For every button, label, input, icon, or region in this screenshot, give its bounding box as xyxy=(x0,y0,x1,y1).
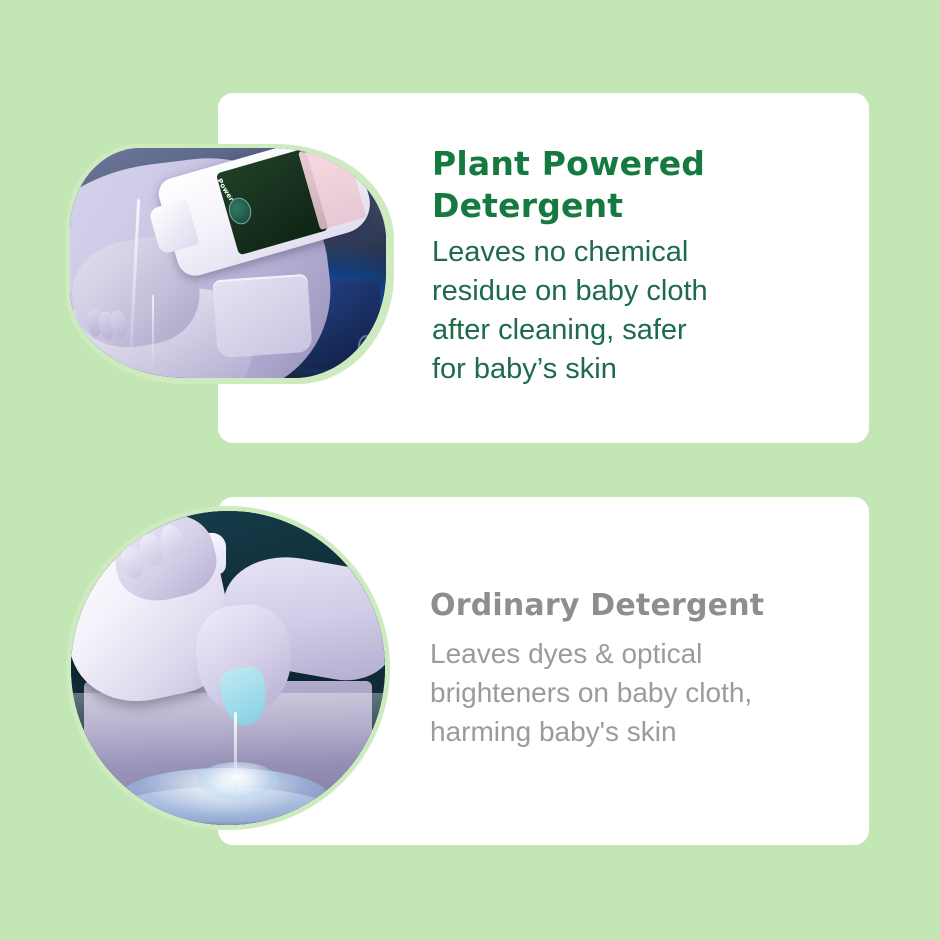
plant-powered-body: Leaves no chemical residue on baby cloth… xyxy=(432,233,832,389)
ordinary-photo-frame xyxy=(71,511,385,825)
machine-dial-icon xyxy=(358,335,375,358)
plant-powered-text: Plant Powered Detergent Leaves no chemic… xyxy=(432,143,832,389)
plant-powered-photo: Powered xyxy=(66,144,394,384)
ordinary-detergent-photo xyxy=(66,506,390,830)
detergent-stream xyxy=(152,295,154,373)
infographic-comparison: Powered Plant Powered Detergent Leaves n… xyxy=(0,0,940,940)
ordinary-detergent-text: Ordinary Detergent Leaves dyes & optical… xyxy=(430,586,850,751)
plant-powered-heading: Plant Powered Detergent xyxy=(432,143,832,227)
ordinary-detergent-heading: Ordinary Detergent xyxy=(430,586,850,626)
plant-photo-frame: Powered xyxy=(70,148,386,378)
ordinary-detergent-body: Leaves dyes & optical brighteners on bab… xyxy=(430,634,850,751)
coat-pocket xyxy=(213,274,313,359)
detergent-splash xyxy=(197,762,279,800)
